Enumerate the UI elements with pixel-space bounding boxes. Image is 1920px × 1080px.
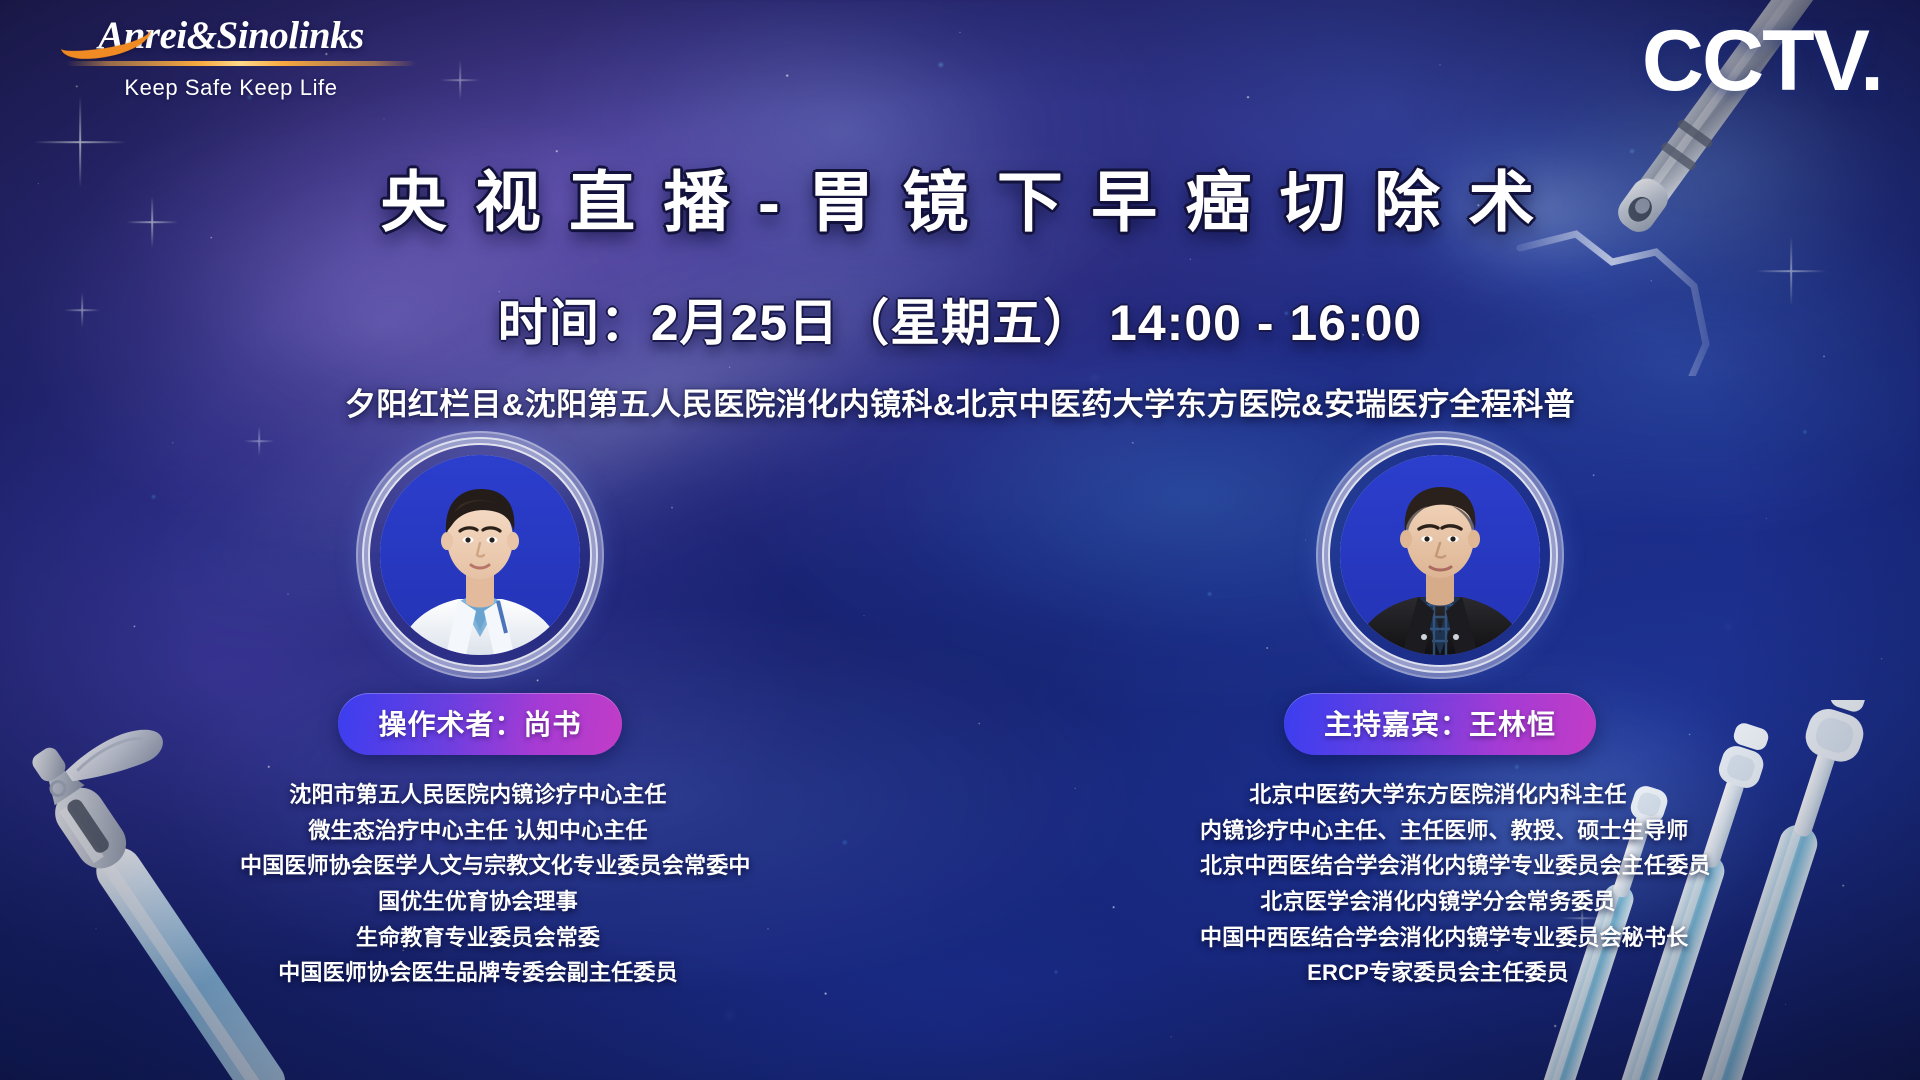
brand-divider-rule	[66, 61, 416, 66]
list-item: 北京医学会消化内镜学分会常务委员	[1200, 884, 1676, 920]
partners-line: 夕阳红栏目&沈阳第五人民医院消化内镜科&北京中医药大学东方医院&安瑞医疗全程科普	[0, 379, 1920, 424]
live-broadcast-poster: Anrei&Sinolinks Keep Safe Keep Life CCTV…	[0, 0, 1920, 1080]
cctv-logo: CCTV.	[1642, 18, 1882, 104]
speaker-card-operator: 操作术者：尚书 沈阳市第五人民医院内镜诊疗中心主任 微生态治疗中心主任 认知中心…	[240, 455, 720, 991]
list-item: 内镜诊疗中心主任、主任医师、教授、硕士生导师	[1200, 813, 1676, 849]
speakers-row: 操作术者：尚书 沈阳市第五人民医院内镜诊疗中心主任 微生态治疗中心主任 认知中心…	[0, 455, 1920, 991]
list-item: 中国医师协会医学人文与宗教文化专业委员会常委中	[240, 848, 716, 884]
brand-wordmark: Anrei&Sinolinks	[66, 16, 396, 55]
list-item: 微生态治疗中心主任 认知中心主任	[240, 813, 716, 849]
headline-block: 央 视 直 播 - 胃 镜 下 早 癌 切 除 术 时间：2月25日（星期五） …	[0, 122, 1920, 424]
list-item: 中国中西医结合学会消化内镜学专业委员会秘书长	[1200, 920, 1676, 956]
anrei-sinolinks-logo: Anrei&Sinolinks Keep Safe Keep Life	[66, 16, 396, 101]
list-item: 生命教育专业委员会常委	[240, 920, 716, 956]
list-item: 北京中西医结合学会消化内镜学专业委员会主任委员	[1200, 848, 1676, 884]
list-item: 国优生优育协会理事	[240, 884, 716, 920]
avatar	[1340, 455, 1540, 655]
credentials-list: 沈阳市第五人民医院内镜诊疗中心主任 微生态治疗中心主任 认知中心主任 中国医师协…	[240, 777, 720, 991]
page-title: 央 视 直 播 - 胃 镜 下 早 癌 切 除 术	[0, 166, 1920, 239]
list-item: 北京中医药大学东方医院消化内科主任	[1200, 777, 1676, 813]
list-item: ERCP专家委员会主任委员	[1200, 955, 1676, 991]
avatar	[380, 455, 580, 655]
list-item: 中国医师协会医生品牌专委会副主任委员	[240, 955, 716, 991]
avatar-ring-decoration	[1328, 443, 1552, 667]
credentials-list: 北京中医药大学东方医院消化内科主任 内镜诊疗中心主任、主任医师、教授、硕士生导师…	[1200, 777, 1680, 991]
brand-tagline: Keep Safe Keep Life	[66, 75, 396, 101]
status-badge: 操作术者：尚书	[338, 693, 621, 755]
event-time: 时间：2月25日（星期五） 14:00 - 16:00	[0, 283, 1920, 355]
list-item: 沈阳市第五人民医院内镜诊疗中心主任	[240, 777, 716, 813]
avatar-ring-decoration	[368, 443, 592, 667]
status-badge: 主持嘉宾：王林恒	[1284, 693, 1596, 755]
speaker-card-host: 主持嘉宾：王林恒 北京中医药大学东方医院消化内科主任 内镜诊疗中心主任、主任医师…	[1200, 455, 1680, 991]
